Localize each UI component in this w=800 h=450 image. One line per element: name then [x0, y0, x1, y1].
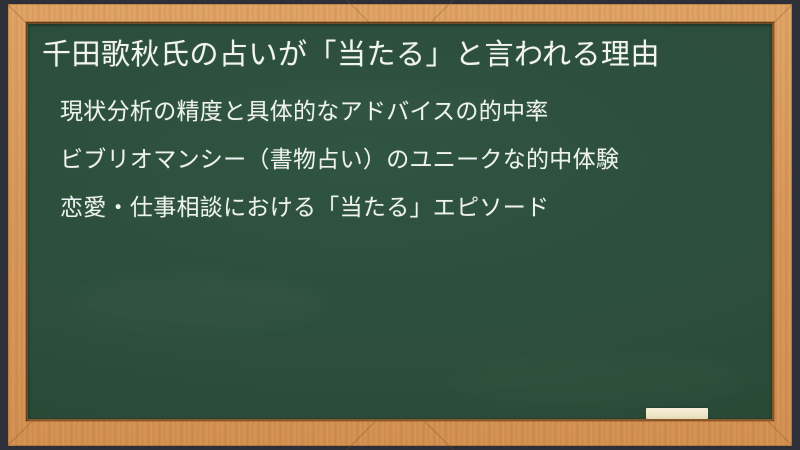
bullet-item-3: 恋愛・仕事相談における「当たる」エピソード: [60, 188, 762, 226]
bullet-list: 現状分析の精度と具体的なアドバイスの的中率 ビブリオマンシー（書物占い）のユニー…: [38, 92, 762, 226]
chalk-stick-icon: [646, 408, 708, 419]
chalkboard-slide: 千田歌秋氏の占いが「当たる」と言われる理由 現状分析の精度と具体的なアドバイスの…: [0, 0, 800, 450]
slide-title: 千田歌秋氏の占いが「当たる」と言われる理由: [38, 32, 762, 74]
chalkboard-surface: 千田歌秋氏の占いが「当たる」と言われる理由 現状分析の精度と具体的なアドバイスの…: [28, 24, 772, 419]
bullet-item-2: ビブリオマンシー（書物占い）のユニークな的中体験: [60, 140, 762, 178]
bullet-item-1: 現状分析の精度と具体的なアドバイスの的中率: [60, 92, 762, 130]
slide-content: 千田歌秋氏の占いが「当たる」と言われる理由 現状分析の精度と具体的なアドバイスの…: [28, 24, 772, 419]
